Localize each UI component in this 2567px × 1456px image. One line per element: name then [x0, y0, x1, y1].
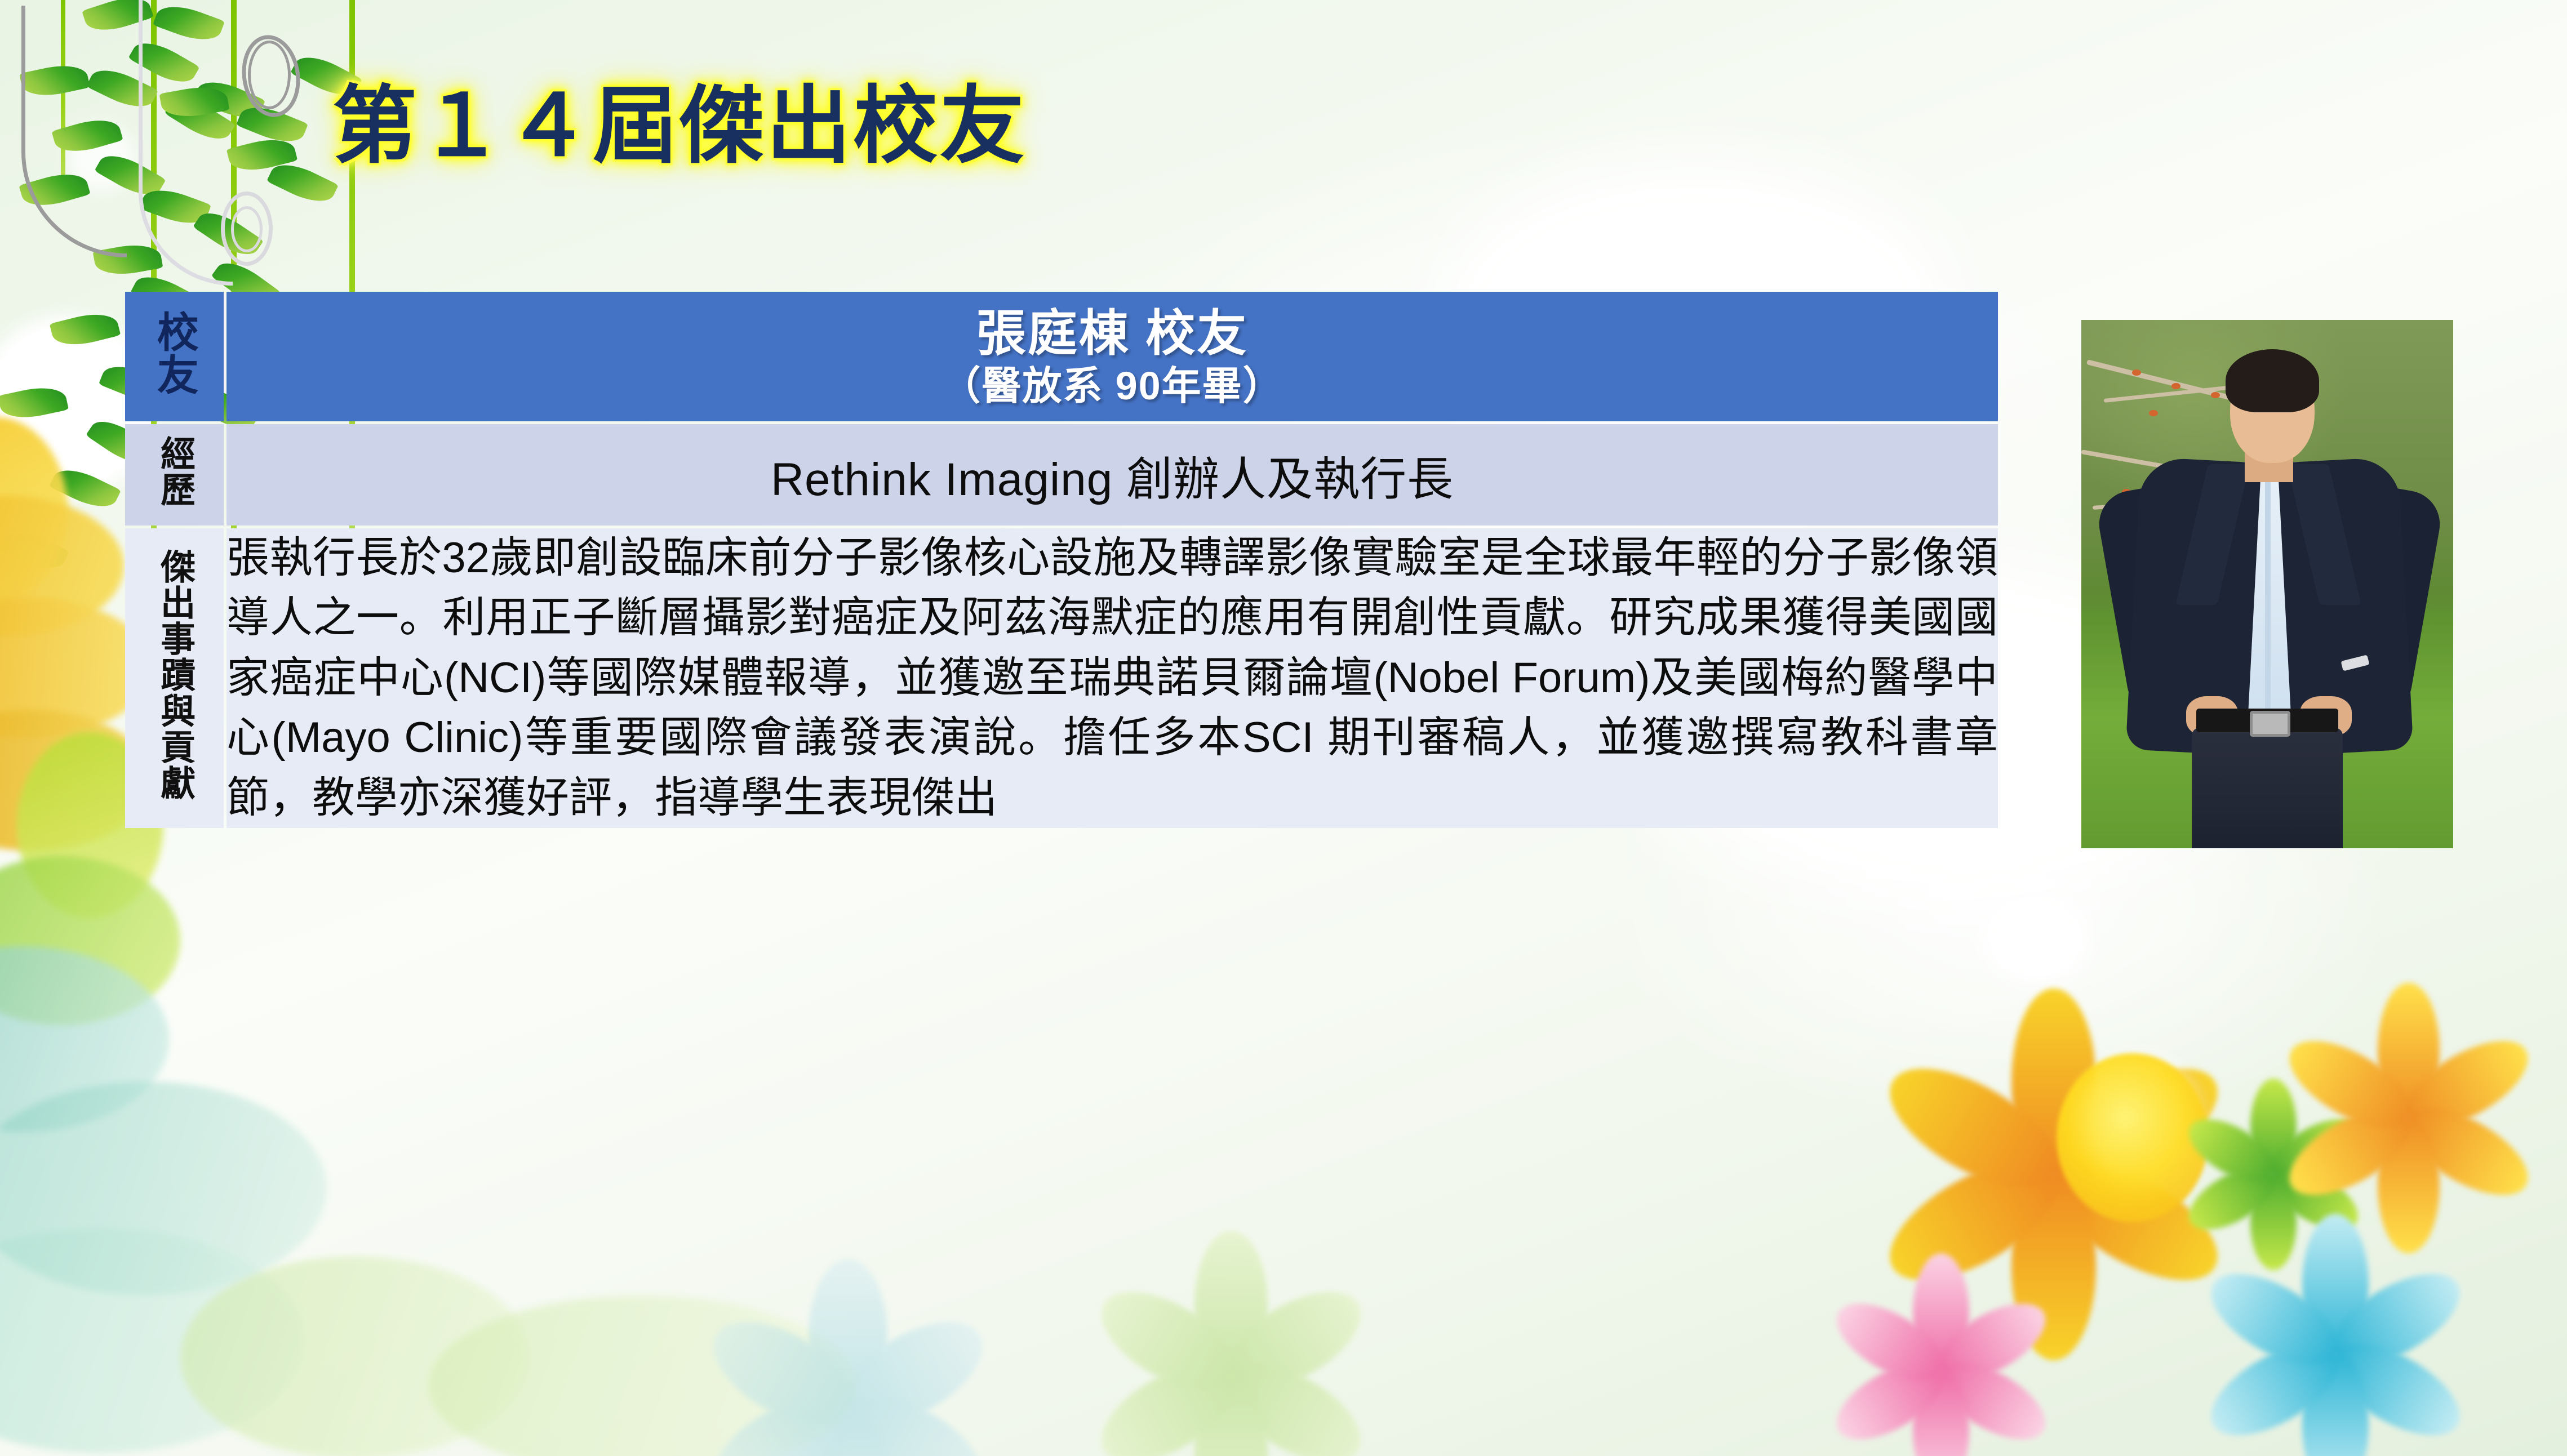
row-label-achievements: 傑出事蹟與貢獻: [125, 528, 224, 828]
willow-leaf: [165, 90, 236, 149]
achievements-paragraph: 張執行長於32歲即創設臨床前分子影像核心設施及轉譯影像實驗室是全球最年輕的分子影…: [226, 528, 1998, 828]
grey-swoosh-doodle: [21, 6, 127, 257]
willow-leaf: [128, 34, 199, 91]
flower-highlight: [2085, 1059, 2197, 1188]
branch-bud: [2149, 410, 2158, 416]
soft-petal: [0, 417, 68, 603]
soft-petal: [0, 1081, 327, 1295]
willow-leaf: [0, 524, 69, 577]
achievements-value: 張執行長於32歲即創設臨床前分子影像核心設施及轉譯影像實驗室是全球最年輕的分子影…: [226, 528, 1998, 828]
alumnus-photo: [2081, 320, 2453, 848]
willow-leaf: [93, 240, 163, 279]
willow-leaf: [19, 60, 90, 101]
willow-leaf: [49, 461, 121, 516]
willow-leaf: [51, 113, 123, 159]
willow-leaf: [159, 82, 230, 122]
alumnus-name-cell: 張庭棟 校友 （醫放系 90年畢）: [226, 292, 1998, 421]
row-label-alumnus-text: 校友: [153, 310, 196, 396]
grey-spiral-doodle: [231, 206, 263, 252]
willow-leaf: [0, 382, 69, 423]
flower-cyan: [2333, 1352, 2338, 1357]
row-label-experience: 經歷: [125, 424, 224, 526]
grey-spiral-doodle: [237, 32, 305, 121]
slide-canvas: 第１４屆傑出校友 校友 張庭棟 校友 （醫放系 90年畢） 經歷 Rethink…: [0, 0, 2567, 1456]
belt-buckle: [2250, 711, 2290, 737]
row-label-alumnus: 校友: [125, 292, 224, 421]
alumnus-name: 張庭棟 校友: [226, 304, 1998, 363]
grey-spiral-doodle: [248, 41, 291, 109]
row-label-achievements-text: 傑出事蹟與貢獻: [157, 549, 192, 801]
grey-swoosh-doodle: [139, 0, 233, 286]
flower-orange-large: [2051, 1172, 2057, 1177]
flower-core-yellow: [2057, 1053, 2209, 1222]
willow-leaf: [153, 0, 225, 48]
soft-petal: [0, 946, 169, 1132]
willow-leaf: [193, 203, 264, 264]
soft-petal: [428, 1295, 856, 1456]
flower-pale-blue: [845, 1408, 851, 1414]
soft-blob: [1983, 896, 2090, 986]
row-label-experience-text: 經歷: [157, 435, 192, 507]
soft-petal: [0, 1228, 304, 1453]
soft-petal: [0, 496, 124, 636]
jeans: [2192, 728, 2343, 848]
grey-spiral-doodle: [221, 192, 273, 266]
branch-bud: [2171, 383, 2180, 389]
willow-leaf: [236, 99, 308, 150]
alumnus-department-year: （醫放系 90年畢）: [226, 363, 1998, 409]
page-title: 第１４屆傑出校友: [332, 83, 1027, 168]
willow-leaf: [19, 167, 90, 213]
table-row-alumnus: 校友 張庭棟 校友 （醫放系 90年畢）: [125, 292, 1998, 421]
willow-vine: [61, 0, 65, 180]
flower-yellow-right: [2406, 1115, 2411, 1121]
flower-green-small: [2271, 1172, 2276, 1177]
flower-pink: [1938, 1369, 1944, 1374]
hair: [2226, 349, 2319, 412]
branch-bud: [2211, 392, 2220, 398]
experience-value: Rethink Imaging 創辦人及執行長: [226, 424, 1998, 526]
willow-leaf: [50, 308, 121, 351]
willow-leaf: [94, 146, 166, 204]
table-row-experience: 經歷 Rethink Imaging 創辦人及執行長: [125, 424, 1998, 526]
willow-leaf: [139, 182, 211, 231]
willow-leaf: [86, 61, 158, 116]
soft-petal: [0, 856, 180, 1025]
shirt-placket: [2265, 467, 2271, 710]
alumnus-info-table: 校友 張庭棟 校友 （醫放系 90年畢） 經歷 Rethink Imaging …: [122, 289, 2001, 831]
soft-petal: [180, 1256, 530, 1456]
branch-bud: [2132, 369, 2141, 376]
flower-pale-green: [1228, 1374, 1234, 1380]
willow-leaf: [193, 73, 265, 126]
willow-leaf: [82, 0, 154, 38]
table-row-achievements: 傑出事蹟與貢獻 張執行長於32歲即創設臨床前分子影像核心設施及轉譯影像實驗室是全…: [125, 528, 1998, 828]
willow-leaf: [226, 133, 298, 176]
soft-blob: [68, 124, 135, 192]
willow-leaf: [267, 156, 339, 211]
